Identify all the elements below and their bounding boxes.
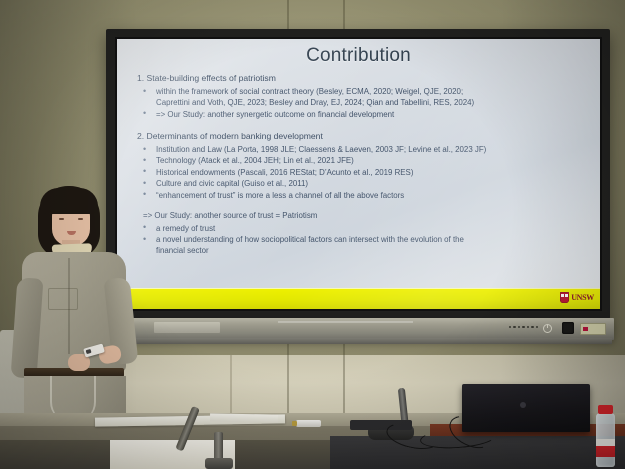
asset-tag-label bbox=[580, 323, 606, 335]
bullet-glyph: • bbox=[143, 166, 146, 177]
bullet-text: a remedy of trust bbox=[156, 224, 215, 233]
bullet-glyph: • bbox=[143, 108, 146, 119]
control-seam bbox=[278, 321, 413, 323]
water-bottle bbox=[595, 405, 617, 467]
bullet-glyph: • bbox=[143, 144, 146, 155]
list-item: • a novel understanding of how sociopoli… bbox=[134, 234, 590, 256]
wall-seam bbox=[230, 355, 232, 417]
bullet-text: within the framework of social contract … bbox=[156, 87, 463, 96]
closing-bullets: • a remedy of trust • a novel understand… bbox=[134, 223, 590, 257]
bullet-glyph: • bbox=[143, 178, 146, 189]
wall-display[interactable]: Contribution 1. State-building effects o… bbox=[106, 29, 610, 319]
shirt-pocket bbox=[48, 288, 78, 310]
bullet-glyph: • bbox=[143, 234, 146, 245]
section-heading-1: 1. State-building effects of patriotism bbox=[137, 73, 590, 84]
bullet-glyph: • bbox=[143, 189, 146, 200]
list-item: • Historical endowments (Pascali, 2016 R… bbox=[134, 167, 590, 178]
unsw-crest-icon bbox=[560, 292, 569, 303]
unsw-logo-text: UNSW bbox=[571, 293, 594, 302]
bullet-text: Institution and Law (La Porta, 1998 JLE;… bbox=[156, 145, 486, 154]
bullet-glyph: • bbox=[143, 155, 146, 166]
papers-stack bbox=[210, 413, 278, 422]
desk-small-object bbox=[296, 420, 321, 427]
display-shelf bbox=[104, 338, 612, 344]
microphone-base bbox=[205, 458, 233, 469]
display-control-bar[interactable] bbox=[102, 318, 614, 340]
list-item: • Institution and Law (La Porta, 1998 JL… bbox=[134, 144, 590, 155]
list-item: • within the framework of social contrac… bbox=[134, 86, 590, 108]
list-item: • Culture and civic capital (Guiso et al… bbox=[134, 178, 590, 189]
bottle-cap bbox=[598, 405, 613, 414]
bullet-text: Historical endowments (Pascali, 2016 RES… bbox=[156, 168, 413, 177]
slide-body: 1. State-building effects of patriotism … bbox=[134, 73, 590, 257]
section-heading-2: 2. Determinants of modern banking develo… bbox=[137, 131, 590, 142]
list-item: • Technology (Atack et al., 2004 JEH; Li… bbox=[134, 155, 590, 166]
bullet-text: => Our Study: another synergetic outcome… bbox=[156, 110, 394, 119]
bullet-glyph: • bbox=[143, 222, 146, 233]
bullet-text: “enhancement of trust” is more a less a … bbox=[156, 191, 404, 200]
closing-arrow-line: => Our Study: another source of trust = … bbox=[143, 210, 590, 221]
unsw-logo: UNSW bbox=[560, 292, 594, 303]
ir-sensor-icon bbox=[562, 322, 574, 334]
slide-title: Contribution bbox=[117, 45, 600, 67]
bullet-text-continuation: Caprettini and Voth, QJE, 2023; Besley a… bbox=[156, 97, 590, 108]
presenter-mouth bbox=[67, 231, 76, 235]
bullet-text: Culture and civic capital (Guiso et al.,… bbox=[156, 179, 308, 188]
power-icon[interactable] bbox=[543, 324, 552, 333]
control-panel-plate bbox=[154, 322, 220, 333]
section-1-bullets: • within the framework of social contrac… bbox=[134, 86, 590, 120]
bullet-text-continuation: financial sector bbox=[156, 245, 590, 256]
slide-footer-bar: UNSW bbox=[117, 288, 600, 309]
list-item: • a remedy of trust bbox=[134, 223, 590, 234]
lecture-room-scene: Contribution 1. State-building effects o… bbox=[0, 0, 625, 469]
presenter-fringe bbox=[40, 188, 98, 214]
list-item: • => Our Study: another synergetic outco… bbox=[134, 109, 590, 120]
bottle-label bbox=[596, 439, 615, 457]
bullet-text: a novel understanding of how sociopoliti… bbox=[156, 235, 464, 244]
bullet-text: Technology (Atack et al., 2004 JEH; Lin … bbox=[156, 156, 354, 165]
indicator-dots bbox=[509, 326, 538, 328]
list-item: • “enhancement of trust” is more a less … bbox=[134, 190, 590, 201]
section-2-bullets: • Institution and Law (La Porta, 1998 JL… bbox=[134, 144, 590, 201]
bullet-glyph: • bbox=[143, 86, 146, 97]
presentation-slide[interactable]: Contribution 1. State-building effects o… bbox=[117, 39, 600, 309]
